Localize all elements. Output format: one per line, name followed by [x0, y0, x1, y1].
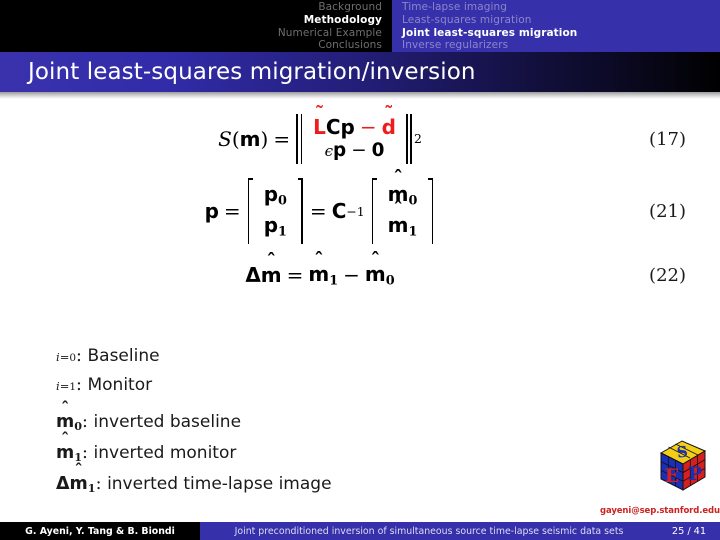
eq17-L-tilde: ˜L	[313, 115, 326, 140]
eq22-delta: Δ	[245, 263, 260, 287]
eq17-p2: p	[333, 140, 346, 161]
eq17-m: m	[240, 127, 261, 151]
eq21-bracket-left-2	[370, 178, 379, 244]
index-definition-list: i=0: Baseline i=1: Monitor	[56, 343, 160, 401]
eq17-minus: −	[360, 115, 377, 139]
equation-22-row: Δˆm = ˆm1 − ˆm0 (22)	[0, 257, 720, 293]
page-title: Joint least-squares migration/inversion	[28, 59, 476, 85]
symbol-definition-delta-m1: Δˆm1: inverted time-lapse image	[56, 471, 332, 502]
nav-item-least-squares-migration[interactable]: Least-squares migration	[402, 14, 532, 27]
eq22-equals: =	[287, 263, 304, 287]
equation-21-number: (21)	[649, 201, 686, 222]
eq22-mhat1: ˆm1	[308, 262, 338, 289]
eq21-p: p	[205, 199, 219, 223]
equation-17-number: (17)	[649, 129, 686, 150]
equation-17-row: S(m) = ˜LCp−˜d ϵp−0 2 (17)	[0, 109, 720, 169]
eq21-C: C	[332, 199, 347, 223]
footer-page-indicator: 25 / 41	[658, 522, 720, 540]
eq17-norm-bar-left	[295, 114, 304, 164]
title-shadow-divider	[0, 92, 720, 99]
navigation-bar: Background Methodology Numerical Example…	[0, 0, 720, 52]
symbol-mhat0: ˆm0	[56, 412, 82, 432]
eq21-equals-2: =	[310, 199, 327, 223]
eq21-C-exponent: −1	[346, 204, 364, 219]
nav-item-numerical-example[interactable]: Numerical Example	[278, 27, 382, 40]
symbol-definition-m1: ˆm1: inverted monitor	[56, 440, 332, 471]
eq21-vector-p: p0 p1	[255, 178, 296, 244]
nav-section-list: Background Methodology Numerical Example…	[0, 0, 392, 52]
eq21-bracket-right-2	[426, 178, 435, 244]
nav-item-background[interactable]: Background	[318, 1, 382, 14]
symbol-definition-m0: ˆm0: inverted baseline	[56, 409, 332, 440]
page-current: 25	[672, 526, 684, 537]
page-total: 41	[694, 526, 706, 537]
slide-content: S(m) = ˜LCp−˜d ϵp−0 2 (17)	[0, 99, 720, 499]
equation-21-row: p = p0 p1 = C−1 ˆm0 ˆm1	[0, 181, 720, 241]
eq17-paren-close: )	[261, 127, 269, 151]
equation-17: S(m) = ˜LCp−˜d ϵp−0 2	[0, 114, 640, 164]
index-definition-baseline: i=0: Baseline	[56, 343, 160, 372]
eq17-epsilon: ϵ	[325, 142, 333, 160]
nav-subsection-list: Time-lapse imaging Least-squares migrati…	[392, 0, 720, 52]
sep-cube-logo-svg: S E P	[652, 436, 714, 498]
eq21-bracket-right-1	[296, 178, 305, 244]
svg-text:P: P	[688, 463, 702, 485]
eq17-norm-bar-right	[405, 114, 414, 164]
eq22-minus: −	[343, 263, 360, 287]
eq17-minus-2: −	[351, 140, 366, 161]
footer-paper-title: Joint preconditioned inversion of simult…	[200, 522, 658, 540]
title-bar: Joint least-squares migration/inversion	[0, 52, 720, 92]
eq21-p1: p1	[264, 211, 287, 242]
nav-item-inverse-regularizers[interactable]: Inverse regularizers	[402, 39, 508, 52]
index-definition-monitor: i=1: Monitor	[56, 372, 160, 401]
eq17-d-tilde: ˜d	[382, 115, 396, 140]
svg-text:E: E	[665, 465, 679, 487]
eq17-equals: =	[273, 127, 290, 151]
footer-bar: G. Ayeni, Y. Tang & B. Biondi Joint prec…	[0, 522, 720, 540]
nav-item-methodology[interactable]: Methodology	[304, 14, 382, 27]
eq21-vector-m: ˆm0 ˆm1	[379, 178, 427, 244]
equation-22: Δˆm = ˆm1 − ˆm0	[0, 262, 640, 289]
contact-email: gayeni@sep.stanford.edu	[600, 506, 720, 516]
eq17-norm-contents: ˜LCp−˜d ϵp−0	[304, 114, 405, 164]
eq22-mhat0: ˆm0	[365, 262, 395, 289]
sep-cube-logo: S E P	[652, 436, 714, 498]
eq17-exponent: 2	[414, 131, 422, 146]
equation-21: p = p0 p1 = C−1 ˆm0 ˆm1	[0, 178, 640, 244]
nav-item-conclusions[interactable]: Conclusions	[318, 39, 382, 52]
nav-item-joint-least-squares-migration[interactable]: Joint least-squares migration	[402, 27, 577, 40]
equation-22-number: (22)	[649, 265, 686, 286]
eq21-p0: p0	[264, 180, 287, 211]
eq21-bracket-left-1	[246, 178, 255, 244]
eq17-row-1: ˜LCp−˜d	[313, 115, 396, 140]
symbol-definition-list: ˆm0: inverted baseline ˆm1: inverted mon…	[56, 409, 332, 502]
eq17-row-2: ϵp−0	[325, 140, 385, 163]
eq17-zero: 0	[372, 140, 385, 161]
eq17-paren-open: (	[232, 127, 240, 151]
symbol-delta-mhat1: Δˆm1	[56, 474, 96, 494]
footer-authors: G. Ayeni, Y. Tang & B. Biondi	[0, 522, 200, 540]
slide: Background Methodology Numerical Example…	[0, 0, 720, 540]
eq21-mhat1: ˆm1	[388, 211, 418, 242]
eq17-C: C	[326, 115, 341, 139]
eq21-equals-1: =	[224, 199, 241, 223]
eq17-p: p	[341, 115, 355, 139]
eq22-m-hat: ˆm	[261, 263, 282, 287]
eq17-S: S	[218, 127, 232, 151]
nav-item-time-lapse-imaging[interactable]: Time-lapse imaging	[402, 1, 507, 14]
page-separator: /	[687, 526, 690, 537]
